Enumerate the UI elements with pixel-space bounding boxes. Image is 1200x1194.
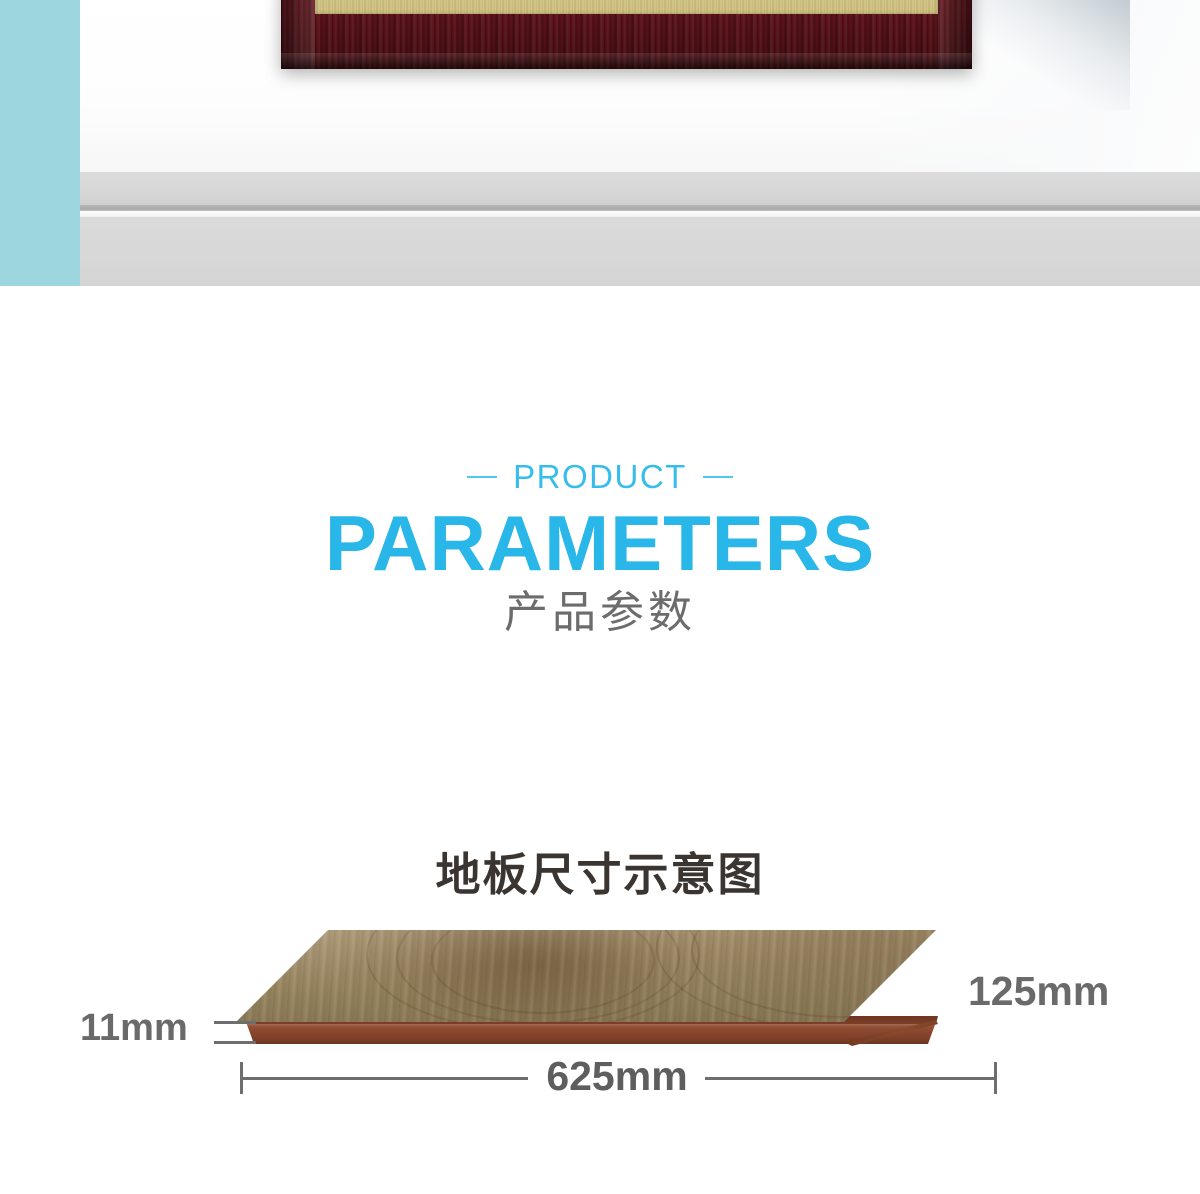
length-endcap-right [994,1062,997,1094]
board-face-shading [236,930,936,1022]
dash-left-icon [467,476,497,478]
width-label: 125mm [968,968,1109,1015]
eyebrow-row: PRODUCT [0,460,1200,493]
product-detail-page: PRODUCT PARAMETERS 产品参数 地板尺寸示意图 [0,0,1200,1194]
length-line-right [705,1077,997,1080]
gold-plaque [315,0,938,14]
thickness-label: 11mm [80,1007,188,1050]
picture-frame [281,0,972,69]
thickness-tick-bottom [214,1041,256,1044]
eyebrow-label: PRODUCT [513,460,687,493]
dash-right-icon [703,476,733,478]
page-subtitle: 产品参数 [0,589,1200,637]
page-title: PARAMETERS [0,503,1200,585]
length-label: 625mm [528,1053,706,1100]
frame-bevel-right [938,0,972,69]
hero-interior-photo [0,0,1200,286]
cabinet-lower-face [80,217,1200,286]
frame-bevel-bottom [281,53,972,69]
floorboard-3d [236,930,936,1045]
section-heading: PRODUCT PARAMETERS 产品参数 [0,460,1200,637]
diagram-title: 地板尺寸示意图 [0,838,1200,903]
length-line-left [240,1077,528,1080]
frame-drop-shadow [960,0,1130,110]
frame-bevel-left [281,0,315,69]
cabinet-upper-face [80,172,1200,205]
thickness-tick-top [214,1021,256,1024]
